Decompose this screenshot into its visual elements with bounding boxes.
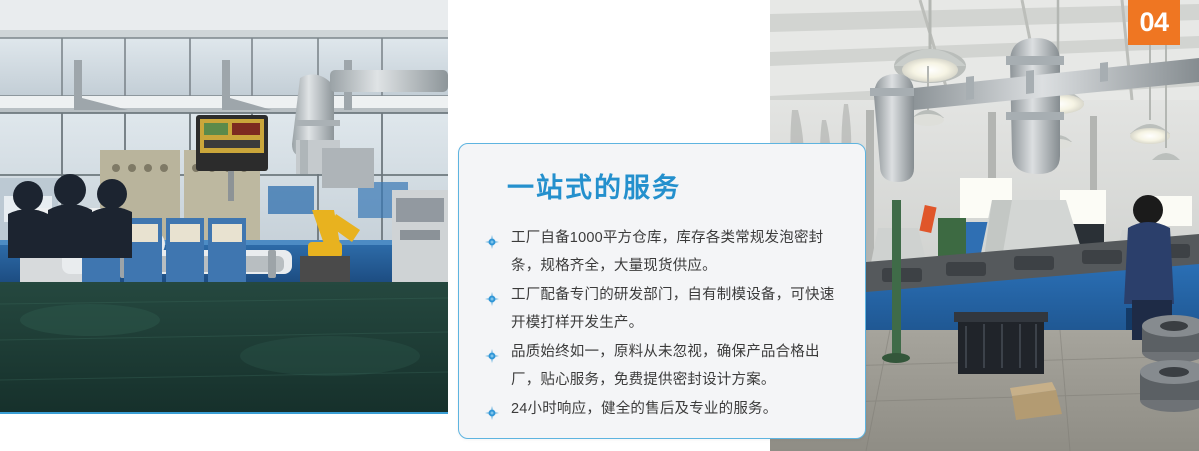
diamond-compass-bullet-icon — [485, 345, 499, 359]
list-item: 工厂配备专门的研发部门，自有制模设备，可快速开模打样开发生产。 — [485, 281, 843, 337]
step-number-badge: 04 — [1128, 0, 1180, 45]
diamond-compass-bullet-icon — [485, 231, 499, 245]
list-item: 工厂自备1000平方仓库，库存各类常规发泡密封条，规格齐全，大量现货供应。 — [485, 224, 843, 280]
list-item-text: 品质始终如一，原料从未忽视，确保产品合格出厂，贴心服务，免费提供密封设计方案。 — [511, 344, 820, 388]
card-title: 一站式的服务 — [507, 174, 843, 204]
diamond-compass-bullet-icon — [485, 402, 499, 416]
step-number-label: 04 — [1139, 9, 1168, 36]
list-item-text: 工厂自备1000平方仓库，库存各类常规发泡密封条，规格齐全，大量现货供应。 — [511, 230, 823, 274]
list-item: 24小时响应，健全的售后及专业的服务。 — [485, 395, 843, 423]
list-item-text: 24小时响应，健全的售后及专业的服务。 — [511, 401, 777, 417]
service-bullet-list: 工厂自备1000平方仓库，库存各类常规发泡密封条，规格齐全，大量现货供应。 — [485, 224, 843, 423]
diamond-compass-bullet-icon — [485, 288, 499, 302]
list-item-text: 工厂配备专门的研发部门，自有制模设备，可快速开模打样开发生产。 — [511, 287, 834, 331]
list-item: 品质始终如一，原料从未忽视，确保产品合格出厂，贴心服务，免费提供密封设计方案。 — [485, 338, 843, 394]
service-info-card: 一站式的服务 工厂自备1000平方仓库，库存各类常规发 — [458, 143, 866, 439]
banner-stage: 04 一站式的服务 工厂自 — [0, 0, 1199, 451]
factory-extrusion-line-photo — [0, 0, 448, 414]
